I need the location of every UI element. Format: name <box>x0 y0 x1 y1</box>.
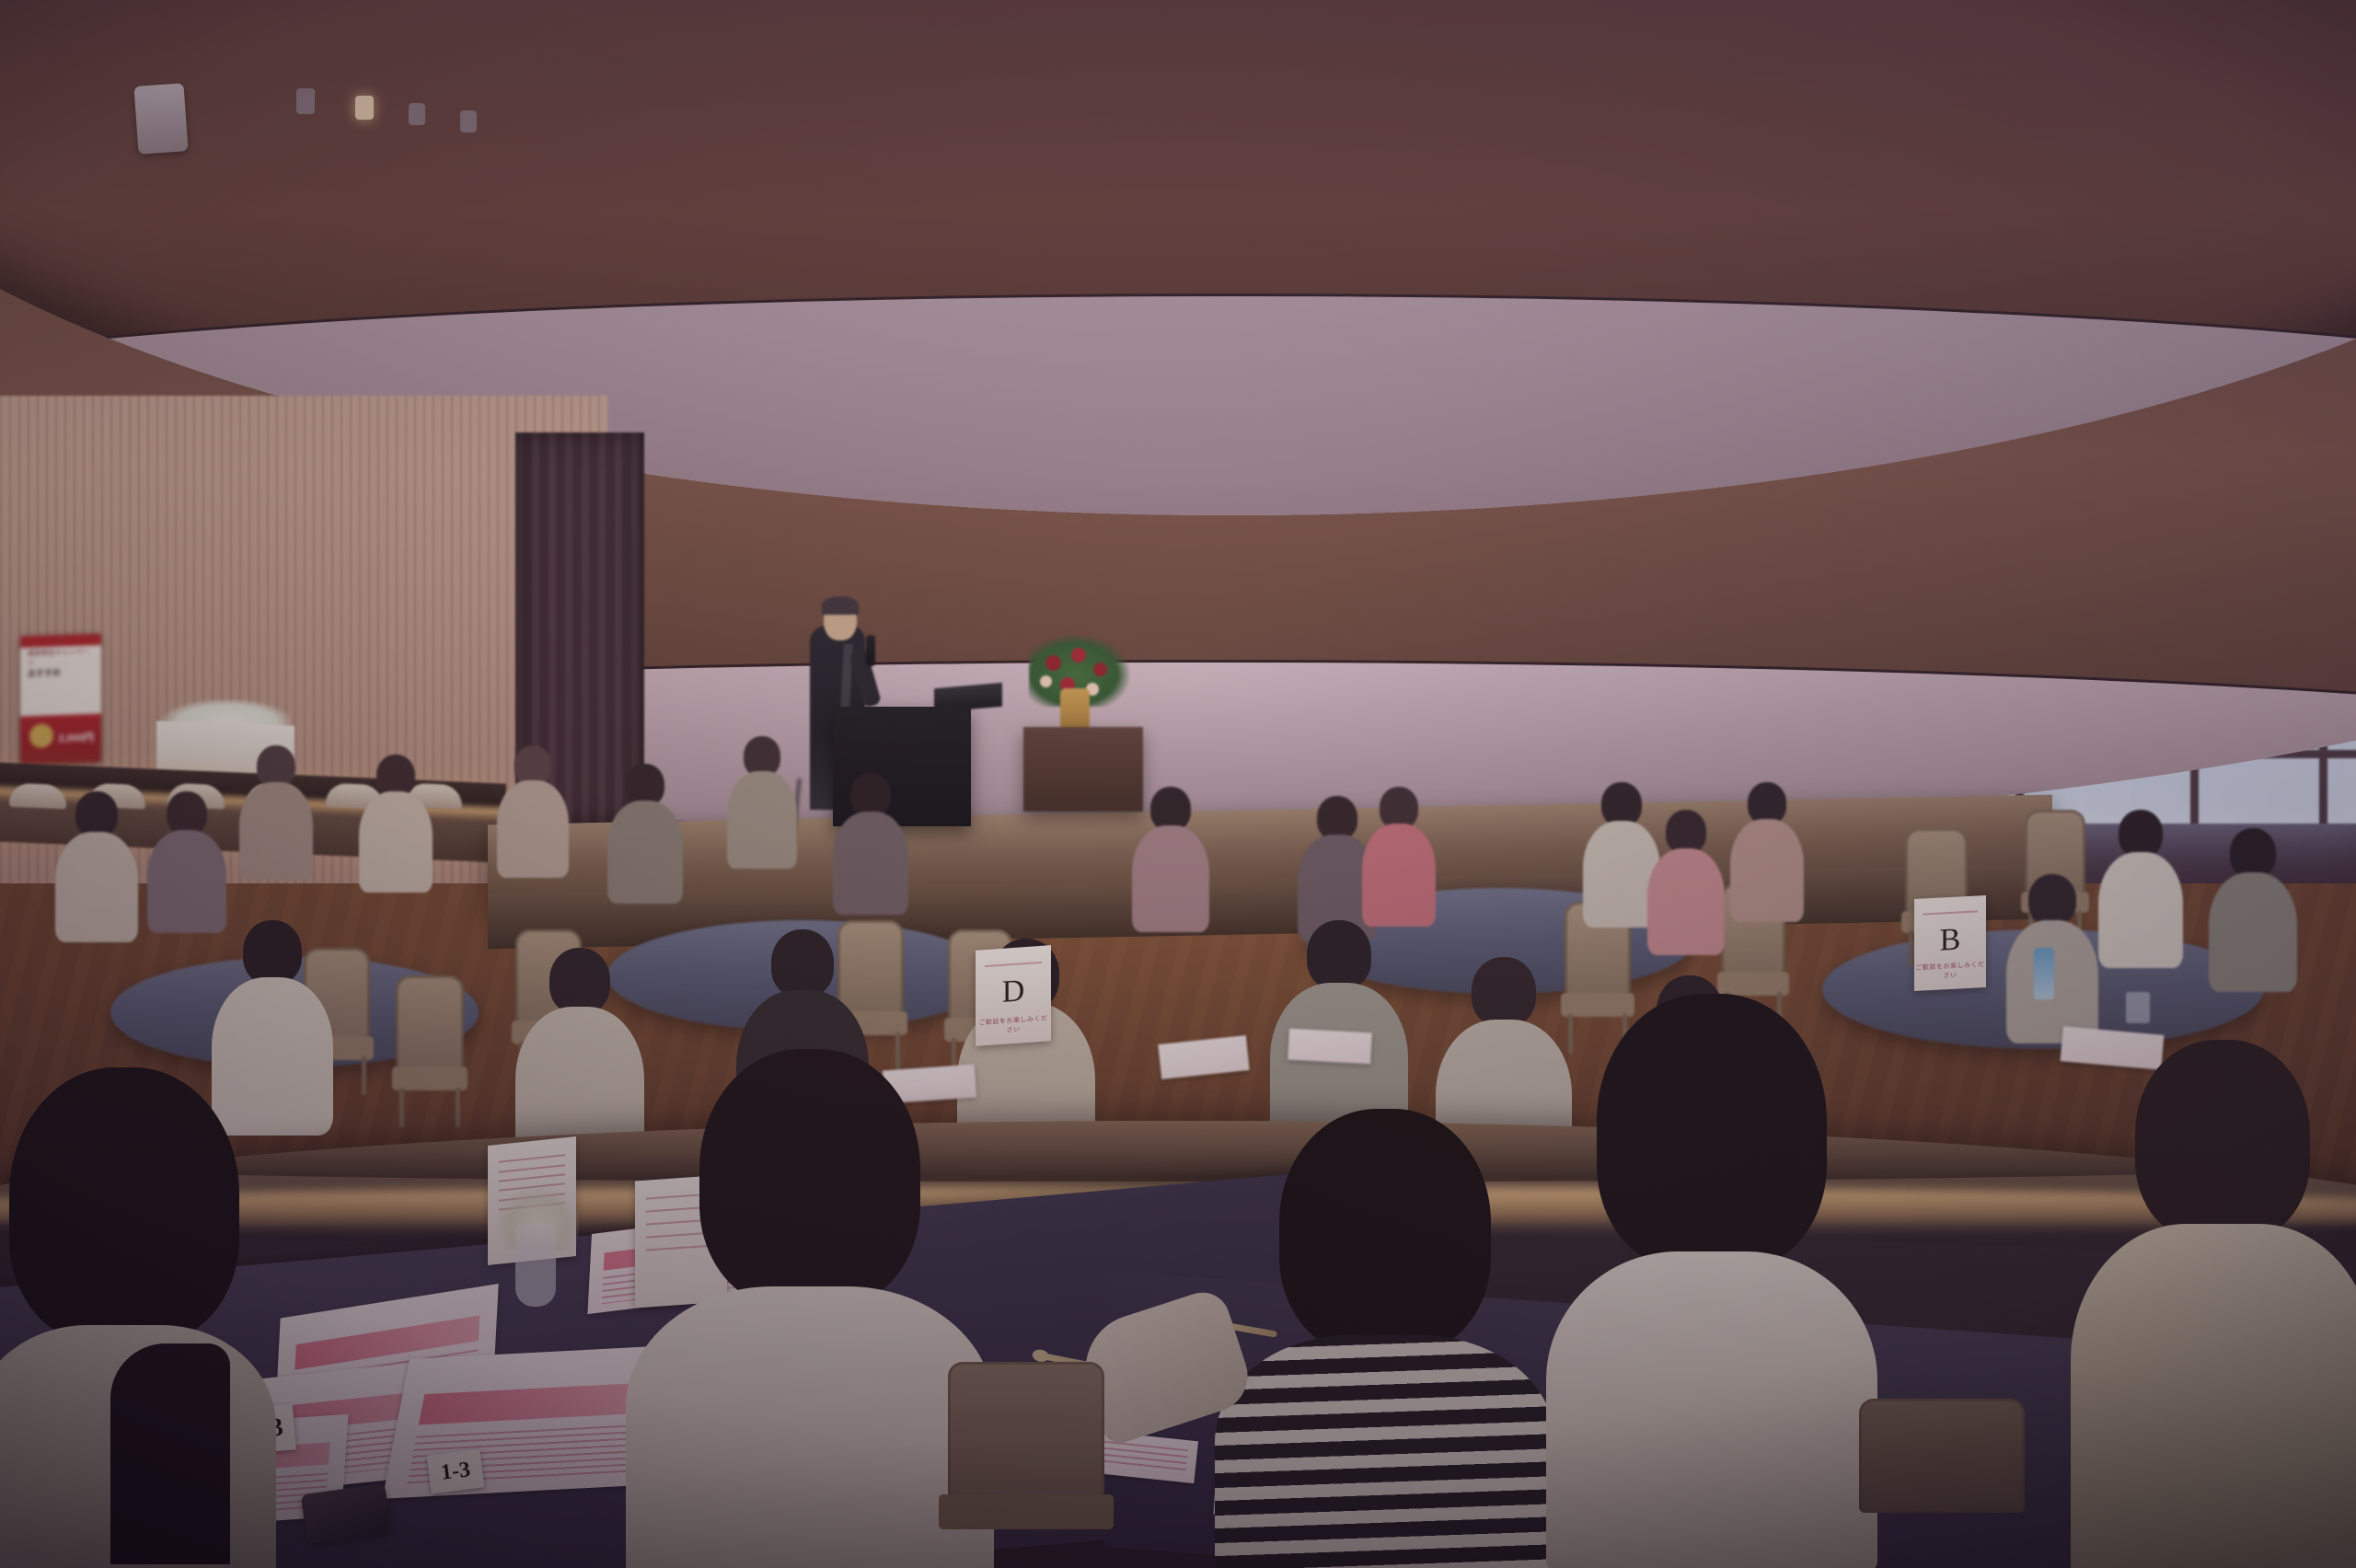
banquet-chair <box>948 1362 1104 1568</box>
foreground-attendee <box>1546 994 1877 1564</box>
seated-attendee <box>2209 828 2297 989</box>
tent-card-letter: B <box>1914 921 1986 960</box>
table-tent-card: D ご歓談をお楽しみください <box>976 945 1051 1046</box>
tent-card-subtext: ご歓談をお楽しみください <box>1914 960 1986 982</box>
flower-plinth <box>1023 727 1143 812</box>
promotional-leaflet <box>1288 1029 1372 1065</box>
tent-card-subtext: ご歓談をお楽しみください <box>976 1013 1051 1037</box>
table-flower-vase <box>515 1224 556 1307</box>
banquet-chair <box>1859 1399 2025 1568</box>
ceiling-speaker-icon <box>133 83 188 155</box>
poster-headline: おすすめ <box>28 665 94 680</box>
track-spotlight-icon <box>355 96 374 120</box>
presenter-hair <box>822 596 859 615</box>
seated-attendee <box>1362 787 1436 925</box>
photograph-scene: 自己紹介 柿 沼 雄 二 福島県立医科大学・旧第二外科学講座出身 昭和38年11… <box>0 0 2356 1568</box>
seated-attendee <box>1132 787 1209 929</box>
foreground-attendee <box>626 1049 994 1568</box>
track-spotlight-icon <box>460 110 477 133</box>
coin-icon <box>29 723 53 748</box>
poster-price: 2,000円 <box>58 730 94 745</box>
seated-attendee <box>2098 810 2183 966</box>
seated-attendee <box>833 773 908 911</box>
track-spotlight-icon <box>296 88 315 114</box>
table-tent-card: B ご歓談をお楽しみください <box>1914 895 1986 991</box>
seated-attendee <box>55 791 138 939</box>
promo-poster: 期間限定キャンペーン おすすめ 2,000円 <box>20 633 101 765</box>
seated-attendee <box>239 745 313 874</box>
drinking-glass-icon <box>2126 992 2150 1023</box>
track-spotlight-icon <box>409 103 425 125</box>
foreground-attendee-shoulder-strap <box>110 1343 230 1564</box>
seated-attendee <box>607 764 683 902</box>
seated-attendee <box>147 791 226 929</box>
seated-attendee <box>1647 810 1725 952</box>
banquet-chair <box>396 975 464 1127</box>
seat-number-card: 1-3 <box>427 1449 485 1494</box>
seated-attendee <box>359 755 433 888</box>
seated-attendee <box>497 745 569 874</box>
seated-attendee <box>1730 782 1804 920</box>
foreground-attendee-striped-shirt <box>1215 1109 1555 1568</box>
water-bottle-icon <box>2034 948 2054 999</box>
partition-handrail-cap <box>0 1121 2356 1182</box>
handheld-microphone-icon <box>866 635 875 666</box>
poster-top-band: 期間限定キャンペーン <box>28 647 94 668</box>
seated-attendee <box>727 736 797 865</box>
foreground-attendee <box>2071 1031 2356 1568</box>
tent-card-letter: D <box>976 972 1051 1012</box>
